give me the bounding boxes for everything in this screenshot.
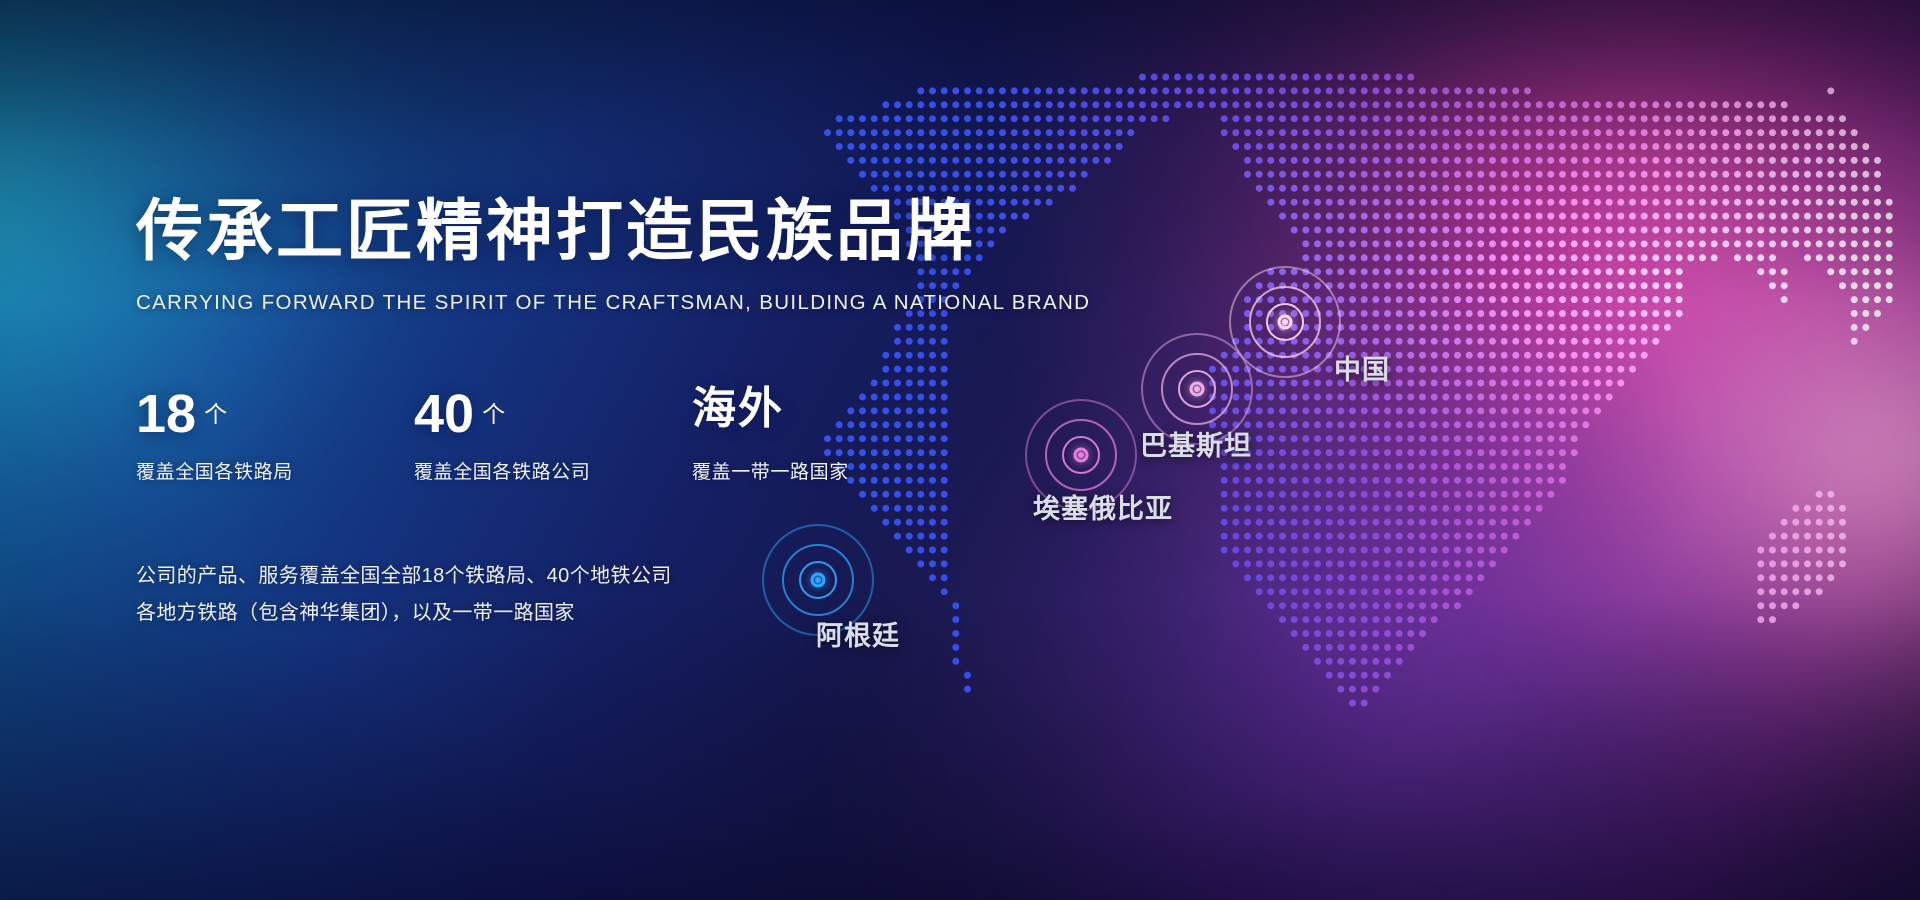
stat-number: 18 <box>136 387 196 441</box>
description-block: 公司的产品、服务覆盖全国全部18个铁路局、40个地铁公司 各地方铁路（包含神华集… <box>136 558 1036 632</box>
stat-value-group: 18 个 <box>136 387 414 445</box>
map-marker-label-ethiopia: 埃塞俄比亚 <box>1033 487 1173 526</box>
description-line-1: 公司的产品、服务覆盖全国全部18个铁路局、40个地铁公司 <box>136 558 1036 595</box>
stat-item-railway-bureaus: 18 个 覆盖全国各铁路局 <box>136 387 414 484</box>
marker-dot-icon <box>1194 386 1200 392</box>
stat-unit: 个 <box>204 395 227 429</box>
page-title: 传承工匠精神打造民族品牌 <box>136 196 1036 267</box>
banner-stage: 中国 巴基斯坦 埃塞俄比亚 <box>0 0 1920 900</box>
banner-content: 传承工匠精神打造民族品牌 CARRYING FORWARD THE SPIRIT… <box>136 196 1036 632</box>
stats-row: 18 个 覆盖全国各铁路局 40 个 覆盖全国各铁路公司 海外 覆盖一带一路国家 <box>136 387 1036 484</box>
marker-dot-icon <box>1282 319 1288 325</box>
stat-description: 覆盖全国各铁路局 <box>136 457 414 484</box>
stat-value-group: 海外 <box>692 387 849 445</box>
stat-number: 海外 <box>692 387 784 431</box>
description-line-2: 各地方铁路（包含神华集团），以及一带一路国家 <box>136 595 1036 632</box>
map-marker-label-pakistan: 巴基斯坦 <box>1140 424 1252 463</box>
stat-value-group: 40 个 <box>414 387 692 445</box>
stat-item-overseas: 海外 覆盖一带一路国家 <box>692 387 849 484</box>
page-subtitle: CARRYING FORWARD THE SPIRIT OF THE CRAFT… <box>136 291 1036 315</box>
stat-description: 覆盖全国各铁路公司 <box>414 457 692 484</box>
stat-description: 覆盖一带一路国家 <box>692 457 849 484</box>
stat-item-railway-companies: 40 个 覆盖全国各铁路公司 <box>414 387 692 484</box>
stat-unit: 个 <box>482 395 505 429</box>
stat-number: 40 <box>414 387 474 441</box>
map-marker-label-china: 中国 <box>1334 348 1390 387</box>
marker-dot-icon <box>1078 452 1084 458</box>
